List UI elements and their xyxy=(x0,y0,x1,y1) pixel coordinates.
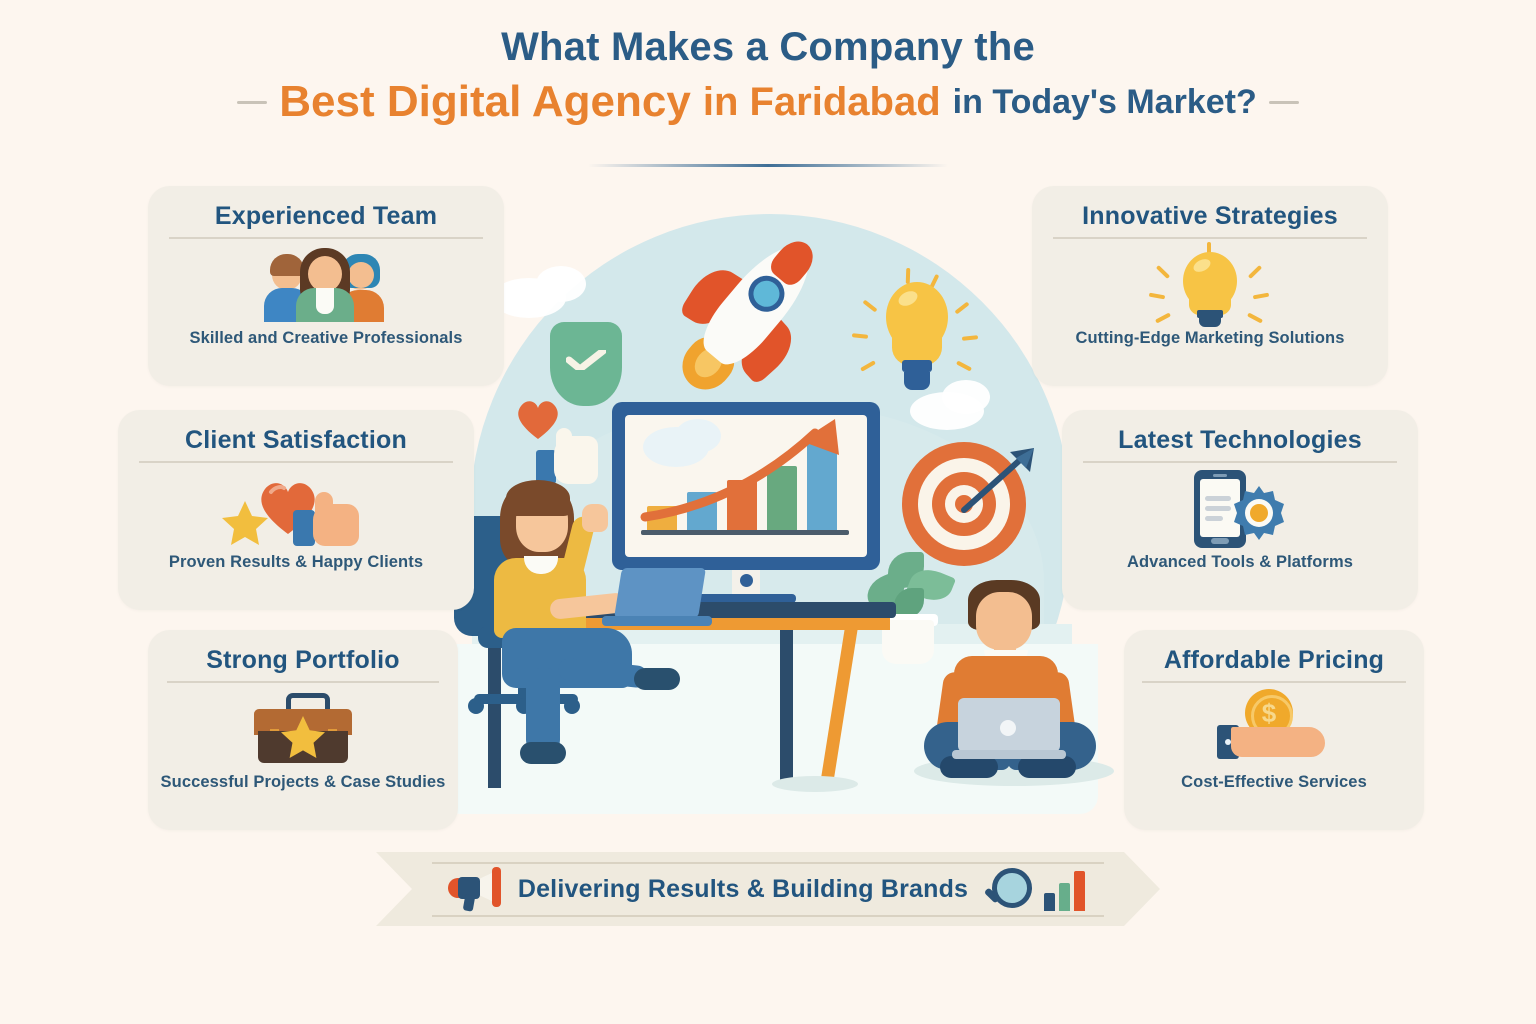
woman-shoe xyxy=(520,742,566,764)
mini-bar xyxy=(1044,893,1055,911)
woman-hair-top xyxy=(506,480,570,516)
title-tail: in Today's Market? xyxy=(953,83,1257,122)
mini-bar xyxy=(1074,871,1085,911)
card-title: Latest Technologies xyxy=(1083,426,1396,463)
smartphone-gear-icon xyxy=(1062,467,1418,551)
card-title: Innovative Strategies xyxy=(1053,202,1366,239)
laptop-screen xyxy=(614,568,706,618)
gear-icon xyxy=(1230,484,1288,542)
man-sitting-with-laptop xyxy=(918,580,1108,810)
check-icon xyxy=(566,350,606,370)
monitor-power-dot xyxy=(740,574,753,587)
card-subtitle: Cutting-Edge Marketing Solutions xyxy=(1075,329,1344,348)
feature-card-strong-portfolio[interactable]: Strong Portfolio Successful Projects & C… xyxy=(148,630,458,830)
bulb-ray xyxy=(1247,312,1263,323)
bulb-ray xyxy=(1248,265,1262,279)
bulb-ray xyxy=(954,301,969,314)
person-hair xyxy=(270,254,304,276)
feature-card-innovative-strategies[interactable]: Innovative Strategies Cutting-Edge Marke… xyxy=(1032,186,1388,386)
title-connector: in Faridabad xyxy=(703,79,941,125)
bulb-ray xyxy=(1155,312,1171,323)
bulb-ray xyxy=(906,268,911,284)
bulb-ray xyxy=(1156,265,1170,279)
title-highlight: Best Digital Agency xyxy=(279,77,691,128)
bottom-banner: Delivering Results & Building Brands xyxy=(376,852,1160,926)
central-illustration xyxy=(432,196,1104,836)
cloud-icon xyxy=(536,266,586,302)
content-line xyxy=(1205,496,1231,501)
title-line-1: What Makes a Company the xyxy=(0,24,1536,71)
page-title: What Makes a Company the Best Digital Ag… xyxy=(0,24,1536,128)
briefcase-star-icon xyxy=(148,687,458,771)
bulb-ray xyxy=(956,360,972,371)
card-title: Client Satisfaction xyxy=(139,426,452,463)
star-icon xyxy=(280,715,326,759)
card-subtitle: Skilled and Creative Professionals xyxy=(189,329,462,348)
lightbulb-icon xyxy=(856,268,976,418)
feature-card-affordable-pricing[interactable]: Affordable Pricing $ Cost-Effective Serv… xyxy=(1124,630,1424,830)
laptop-logo xyxy=(1000,720,1016,736)
chair-caster xyxy=(564,698,580,714)
woman-waving-at-desk xyxy=(454,476,704,806)
feature-card-client-satisfaction[interactable]: Client Satisfaction Proven Results & Hap… xyxy=(118,410,474,610)
smartphone-home-button xyxy=(1211,538,1229,544)
card-subtitle: Successful Projects & Case Studies xyxy=(161,773,446,792)
megaphone-lip xyxy=(492,867,501,907)
smartphone-speaker xyxy=(1213,474,1227,477)
bulb-neck xyxy=(902,360,932,372)
title-underline xyxy=(588,164,948,167)
thumbs-up-icon xyxy=(293,492,359,546)
megaphone-handle xyxy=(463,894,476,911)
bulb-ray xyxy=(862,299,877,312)
woman-shoe xyxy=(634,668,680,690)
mini-bar xyxy=(1059,883,1070,911)
bar-chart-icon xyxy=(1044,867,1090,911)
woman-waving-hand xyxy=(582,504,608,532)
desk-leg-right xyxy=(819,630,857,788)
person-head xyxy=(308,256,342,292)
laptop-base xyxy=(602,616,712,626)
card-subtitle: Proven Results & Happy Clients xyxy=(169,553,423,572)
feature-card-latest-technologies[interactable]: Latest Technologies Advanced Tools & Pla… xyxy=(1062,410,1418,610)
infographic-canvas: What Makes a Company the Best Digital Ag… xyxy=(0,0,1536,1024)
banner-text: Delivering Results & Building Brands xyxy=(518,875,968,904)
title-line-2: Best Digital Agency in Faridabad in Toda… xyxy=(0,77,1536,128)
man-laptop xyxy=(952,698,1064,760)
desk-leg-middle xyxy=(780,630,793,782)
person-face xyxy=(348,262,374,288)
people-group-icon xyxy=(148,243,504,327)
magnifier-lens xyxy=(992,868,1032,908)
title-dash-right xyxy=(1269,101,1299,104)
bulb-ray xyxy=(1149,293,1165,300)
bulb-base xyxy=(904,372,930,390)
card-title: Experienced Team xyxy=(169,202,482,239)
content-line xyxy=(1205,516,1223,521)
dart-icon xyxy=(954,446,1038,530)
feature-card-experienced-team[interactable]: Experienced Team Skilled and Creative Pr… xyxy=(148,186,504,386)
title-dash-left xyxy=(237,101,267,104)
banner-content: Delivering Results & Building Brands xyxy=(376,852,1160,926)
bulb-ray xyxy=(962,335,978,341)
bulb-ray xyxy=(1253,293,1269,300)
content-line xyxy=(1205,506,1231,511)
card-subtitle: Advanced Tools & Platforms xyxy=(1127,553,1353,572)
card-subtitle: Cost-Effective Services xyxy=(1181,773,1367,792)
hand-coin-icon: $ xyxy=(1124,687,1424,771)
person-collar xyxy=(316,288,334,314)
bulb-ray xyxy=(860,360,876,371)
lightbulb-icon xyxy=(1032,243,1388,327)
card-title: Strong Portfolio xyxy=(167,646,440,683)
chair-caster xyxy=(468,698,484,714)
laptop-base xyxy=(952,750,1066,759)
woman-laptop xyxy=(602,568,706,630)
card-title: Affordable Pricing xyxy=(1142,646,1406,683)
magnifier-icon xyxy=(982,866,1030,912)
desk-shadow xyxy=(772,776,858,792)
star-heart-thumbsup-icon xyxy=(118,467,474,551)
open-palm xyxy=(1231,727,1325,757)
megaphone-icon xyxy=(446,867,504,911)
shield-check-icon xyxy=(550,322,622,406)
